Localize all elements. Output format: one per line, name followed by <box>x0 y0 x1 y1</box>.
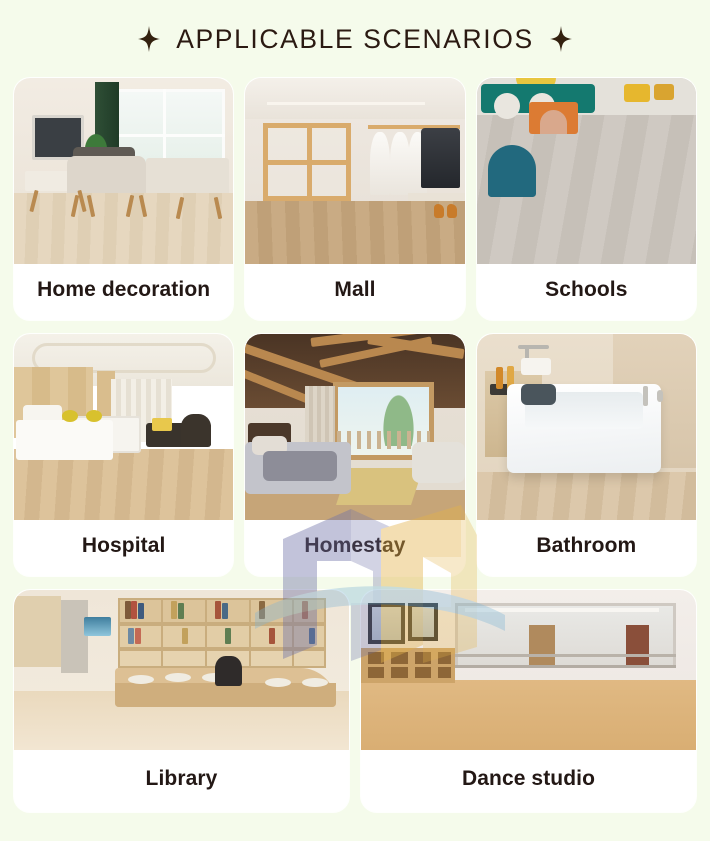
scenario-card-library[interactable]: Library <box>14 590 349 812</box>
scenario-label: Dance studio <box>361 750 696 812</box>
scenario-label: Homestay <box>245 520 464 576</box>
scenario-image-library <box>14 590 349 750</box>
scenario-label: Hospital <box>14 520 233 576</box>
scenario-card-homestay[interactable]: Homestay <box>245 334 464 576</box>
scenario-image-homestay <box>245 334 464 520</box>
scenario-row-2: Hospital <box>14 334 696 576</box>
scenario-card-hospital[interactable]: Hospital <box>14 334 233 576</box>
scenario-card-bathroom[interactable]: Bathroom <box>477 334 696 576</box>
scenario-image-home-decoration <box>14 78 233 264</box>
sparkle-icon <box>138 26 160 52</box>
scenario-card-mall[interactable]: Mall <box>245 78 464 320</box>
scenario-image-dance-studio <box>361 590 696 750</box>
scenario-image-bathroom <box>477 334 696 520</box>
scenario-row-3: Library <box>14 590 696 812</box>
scenario-image-mall <box>245 78 464 264</box>
scenario-card-schools[interactable]: Schools <box>477 78 696 320</box>
scenario-label: Library <box>14 750 349 812</box>
scenario-card-dance-studio[interactable]: Dance studio <box>361 590 696 812</box>
scenario-label: Bathroom <box>477 520 696 576</box>
scenario-label: Schools <box>477 264 696 320</box>
scenario-image-hospital <box>14 334 233 520</box>
scenario-card-home-decoration[interactable]: Home decoration <box>14 78 233 320</box>
scenario-label: Home decoration <box>14 264 233 320</box>
scenario-label: Mall <box>245 264 464 320</box>
scenario-grid: Home decoration <box>0 78 710 812</box>
sparkle-icon <box>550 26 572 52</box>
page-title: APPLICABLE SCENARIOS <box>176 24 533 55</box>
scenario-row-1: Home decoration <box>14 78 696 320</box>
page-header: APPLICABLE SCENARIOS <box>0 0 710 78</box>
scenario-image-schools <box>477 78 696 264</box>
